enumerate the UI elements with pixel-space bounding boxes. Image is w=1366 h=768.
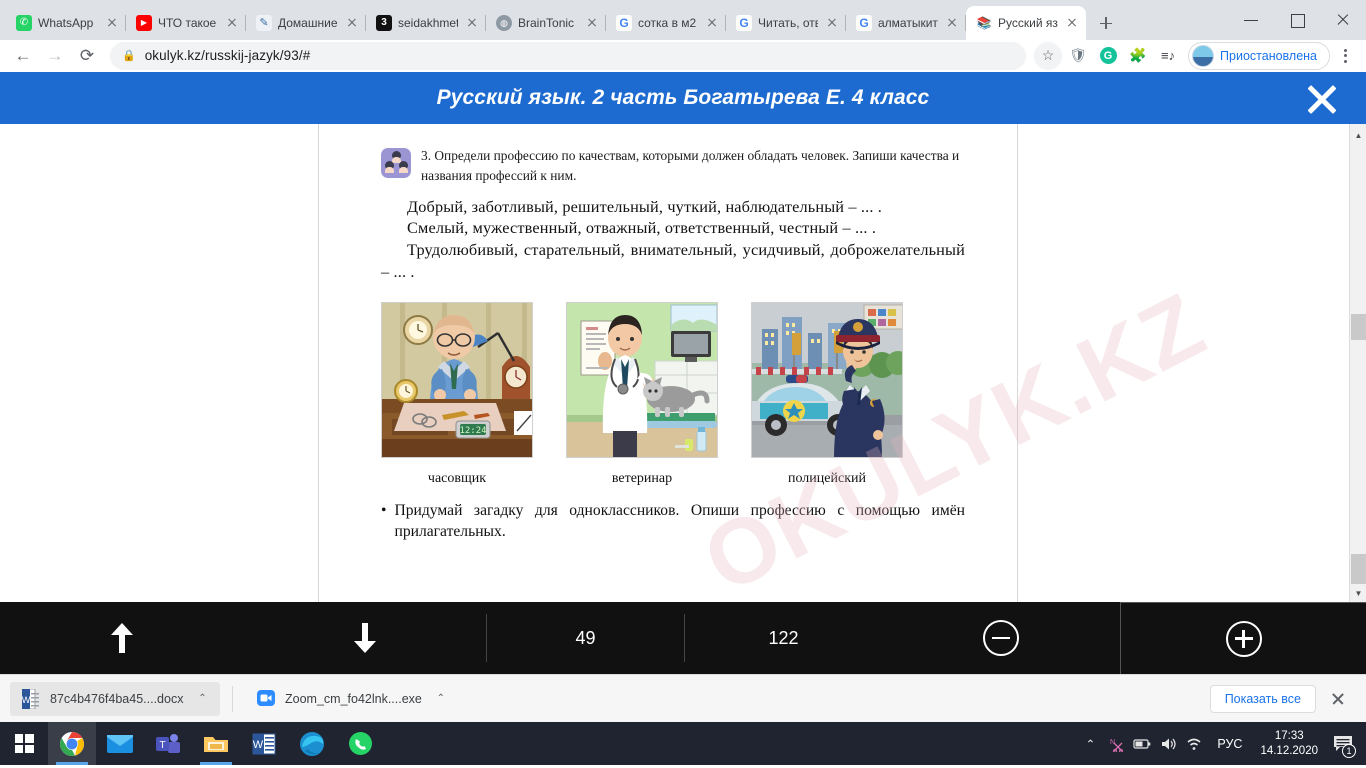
tab-label: WhatsApp [38,16,98,30]
figure-watchmaker: 12:24 часовщик [381,302,533,487]
svg-text:12:24: 12:24 [459,426,486,436]
tab-close-icon[interactable] [824,15,840,31]
paragraph-text: Трудолюбивый, старательный, внимательный… [381,240,965,281]
file-explorer-taskbar-icon[interactable] [192,722,240,765]
tab-close-icon[interactable] [464,15,480,31]
qualities-paragraph-1: Добрый, заботливый, решительный, чуткий,… [381,196,965,218]
scroll-up-arrow-icon[interactable]: ▲ [1350,127,1366,144]
tab-label: алматыкит [878,16,938,30]
group-of-people-icon [381,148,411,178]
google-icon: G [616,15,632,31]
figure-caption: ветеринар [566,471,718,487]
word-taskbar-icon[interactable]: W [240,722,288,765]
download-filename: 87c4b476f4ba45....docx [50,692,183,706]
policeman-illustration-svg [752,303,903,458]
veterinarian-illustration [566,302,718,458]
minus-circle-icon [983,620,1019,656]
bookmark-star-icon[interactable]: ☆ [1034,42,1062,70]
windows-taskbar: T W [0,722,1366,765]
book-header-bar: Русский язык. 2 часть Богатырева Е. 4 кл… [0,72,1366,124]
next-page-button[interactable] [243,602,486,674]
arrow-up-icon [109,621,135,655]
tab-close-icon[interactable] [944,15,960,31]
battery-icon[interactable] [1129,722,1155,765]
tab-braintonic[interactable]: ◍ BrainTonic [486,6,606,40]
veterinarian-illustration-svg [567,303,718,458]
scrollbar-track-lower[interactable] [1351,554,1366,584]
avatar [1192,45,1214,67]
tab-chitat-otvechat[interactable]: G Читать, отв [726,6,846,40]
volume-icon[interactable] [1155,722,1181,765]
notifications-button[interactable]: 1 [1326,722,1360,765]
watchmaker-illustration: 12:24 [381,302,533,458]
globe-icon: ◍ [496,15,512,31]
generic-site-icon: ✎ [256,15,272,31]
puzzle-extensions-icon[interactable]: 🧩 [1124,42,1152,70]
snip-icon[interactable]: N [1103,722,1129,765]
forward-button[interactable]: → [40,41,70,71]
tab-close-icon[interactable] [704,15,720,31]
tab-close-icon[interactable] [224,15,240,31]
shelf-divider [232,686,233,712]
task-instruction: 3. Определи профессию по качествам, кото… [421,146,965,186]
download-filename: Zoom_cm_fo42lnk....exe [285,692,422,706]
tray-chevron-icon[interactable]: ⌃ [1077,722,1103,765]
profile-label: Приостановлена [1220,49,1317,63]
previous-page-button[interactable] [0,602,243,674]
windows-start-icon[interactable] [0,722,48,765]
books-icon: 📚 [976,15,992,31]
zoom-out-button[interactable] [882,602,1120,674]
clock-date: 14.12.2020 [1260,744,1318,758]
book-viewer: 3. Определи профессию по качествам, кото… [0,124,1366,602]
mail-taskbar-icon[interactable] [96,722,144,765]
notification-badge: 1 [1342,744,1356,758]
profile-paused-button[interactable]: Приостановлена [1188,42,1330,70]
playlist-icon[interactable]: ≡♪ [1154,42,1182,70]
qualities-paragraph-2: Смелый, мужественный, отважный, ответств… [381,217,965,239]
grammarly-extension-icon[interactable]: G [1094,42,1122,70]
download-item-exe[interactable]: Zoom_cm_fo42lnk....exe ⌃ [245,682,456,716]
bullet-text: Придумай загадку для одноклассников. Опи… [394,501,965,542]
current-page-number: 49 [575,628,595,649]
tab-close-icon[interactable] [344,15,360,31]
address-bar-url: okulyk.kz/russkij-jazyk/93/# [145,48,311,63]
whatsapp-taskbar-icon[interactable] [336,722,384,765]
extra-task-bullet: • Придумай загадку для одноклассников. О… [381,501,965,542]
address-bar[interactable]: 🔒 okulyk.kz/russkij-jazyk/93/# [110,42,1026,70]
tab-almatykitap[interactable]: G алматыкит [846,6,966,40]
close-icon[interactable] [1301,77,1343,119]
edge-taskbar-icon[interactable] [288,722,336,765]
figure-policeman: полицейский [751,302,903,487]
word-document-icon: W [22,689,40,709]
total-pages-number: 122 [768,628,798,649]
window-controls [1228,0,1366,40]
vertical-scrollbar[interactable]: ▲ ▼ [1349,124,1366,602]
tab-sotka-v-m2[interactable]: G сотка в м2 [606,6,726,40]
minimize-window-button[interactable] [1228,4,1274,36]
chevron-up-icon[interactable]: ⌃ [432,693,450,704]
svg-text:T: T [159,740,165,751]
tab-chto-takoe[interactable]: ▶ ЧТО такое [126,6,246,40]
tab-strip: ✆ WhatsApp ▶ ЧТО такое ✎ Домашние 3 seid… [0,0,1366,40]
close-downloads-shelf-icon[interactable] [1324,685,1352,713]
clock[interactable]: 17:33 14.12.2020 [1252,729,1326,758]
tab-label: seidakhmet [398,16,458,30]
tab-close-icon[interactable] [584,15,600,31]
paragraph-text: Смелый, мужественный, отважный, ответств… [407,218,876,237]
show-all-label: Показать все [1225,692,1301,706]
tab-label: BrainTonic [518,16,578,30]
scrollbar-thumb[interactable] [1351,314,1366,340]
browser-toolbar: ← → ⟳ 🔒 okulyk.kz/russkij-jazyk/93/# ☆ 🛡… [0,40,1366,72]
figure-veterinarian: ветеринар [566,302,718,487]
qualities-paragraph-3: Трудолюбивый, старательный, внимательный… [381,239,965,282]
clock-time: 17:33 [1260,729,1318,743]
google-icon: G [736,15,752,31]
show-all-downloads-button[interactable]: Показать все [1210,685,1316,713]
shield-extension-icon[interactable]: 🛡 [1064,42,1092,70]
reader-toolbar: 49 122 [0,602,1366,674]
numbered-icon: 3 [376,15,392,31]
tab-close-icon[interactable] [1064,15,1080,31]
whatsapp-icon: ✆ [16,15,32,31]
svg-text:W: W [22,695,31,705]
new-tab-button[interactable] [1092,9,1120,37]
total-pages-display: 122 [685,602,882,674]
scroll-down-arrow-icon[interactable]: ▼ [1350,585,1366,602]
language-indicator[interactable]: РУС [1207,737,1252,751]
tab-russkij-jazyk[interactable]: 📚 Русский яз [966,6,1086,40]
downloads-shelf: W 87c4b476f4ba45....docx ⌃ Zoom_cm_fo42l [0,674,1366,722]
svg-text:W: W [253,739,264,751]
svg-text:N: N [1110,739,1115,746]
google-icon: G [856,15,872,31]
tab-close-icon[interactable] [104,15,120,31]
current-page-display[interactable]: 49 [487,602,684,674]
arrow-down-icon [352,621,378,655]
lock-icon: 🔒 [122,49,136,62]
back-button[interactable]: ← [8,41,38,71]
paragraph-text: Добрый, заботливый, решительный, чуткий,… [407,197,882,216]
maximize-window-button[interactable] [1274,4,1320,36]
tab-label: Читать, отв [758,16,818,30]
policeman-illustration [751,302,903,458]
book-page: 3. Определи профессию по качествам, кото… [318,124,1018,602]
zoom-in-button[interactable] [1120,602,1366,674]
plus-circle-icon [1226,621,1262,657]
figure-caption: полицейский [751,471,903,487]
reload-button[interactable]: ⟳ [72,41,102,71]
profession-figures: 12:24 часовщик [381,302,965,487]
download-item-docx[interactable]: W 87c4b476f4ba45....docx ⌃ [10,682,220,716]
watchmaker-illustration-svg: 12:24 [382,303,533,458]
zoom-app-icon [257,689,275,709]
figure-caption: часовщик [381,471,533,487]
wifi-icon[interactable] [1181,722,1207,765]
close-window-button[interactable] [1320,4,1366,36]
book-title: Русский язык. 2 часть Богатырева Е. 4 кл… [437,86,930,110]
chrome-taskbar-icon[interactable] [48,722,96,765]
tab-label: ЧТО такое [158,16,218,30]
tab-label: Домашние [278,16,338,30]
system-tray: ⌃ N [1077,722,1366,765]
bullet-marker: • [381,501,386,542]
tab-label: Русский яз [998,16,1058,30]
youtube-icon: ▶ [136,15,152,31]
teams-taskbar-icon[interactable]: T [144,722,192,765]
browser-window: ✆ WhatsApp ▶ ЧТО такое ✎ Домашние 3 seid… [0,0,1366,768]
chevron-up-icon[interactable]: ⌃ [193,693,211,704]
tab-label: сотка в м2 [638,16,698,30]
tab-whatsapp[interactable]: ✆ WhatsApp [6,6,126,40]
tab-domashnie[interactable]: ✎ Домашние [246,6,366,40]
task-block: 3. Определи профессию по качествам, кото… [381,146,965,186]
tab-seidakhmet[interactable]: 3 seidakhmet [366,6,486,40]
kebab-menu-icon[interactable] [1332,42,1358,70]
